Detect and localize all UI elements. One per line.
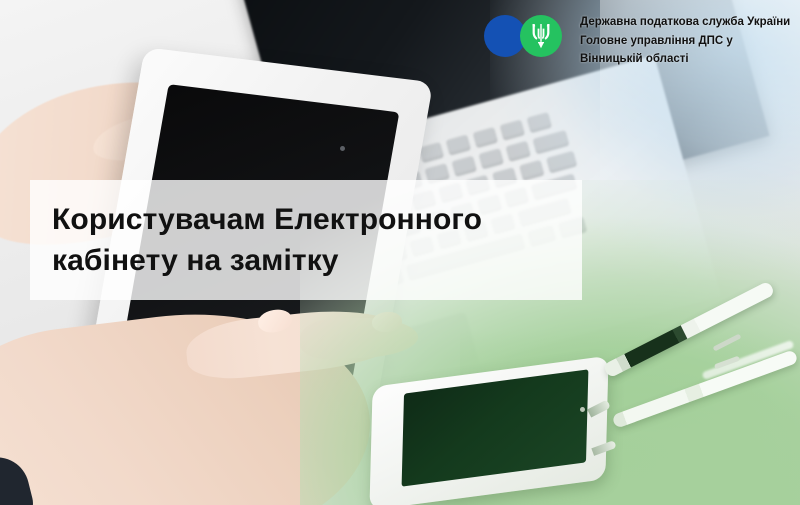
logo-marks [484, 10, 567, 60]
headline-banner: Користувачам Електронного кабінету на за… [30, 180, 582, 300]
green-circle-icon [520, 15, 562, 57]
ukraine-trident-icon [530, 22, 552, 50]
organization-logo-block: Державна податкова служба України Головн… [484, 10, 790, 69]
smartphone-camera [580, 407, 585, 412]
organization-name: Державна податкова служба України Головн… [580, 10, 790, 69]
headline-text: Користувачам Електронного кабінету на за… [30, 199, 482, 282]
tablet-camera [340, 146, 345, 151]
banner-image: Користувачам Електронного кабінету на за… [0, 0, 800, 505]
